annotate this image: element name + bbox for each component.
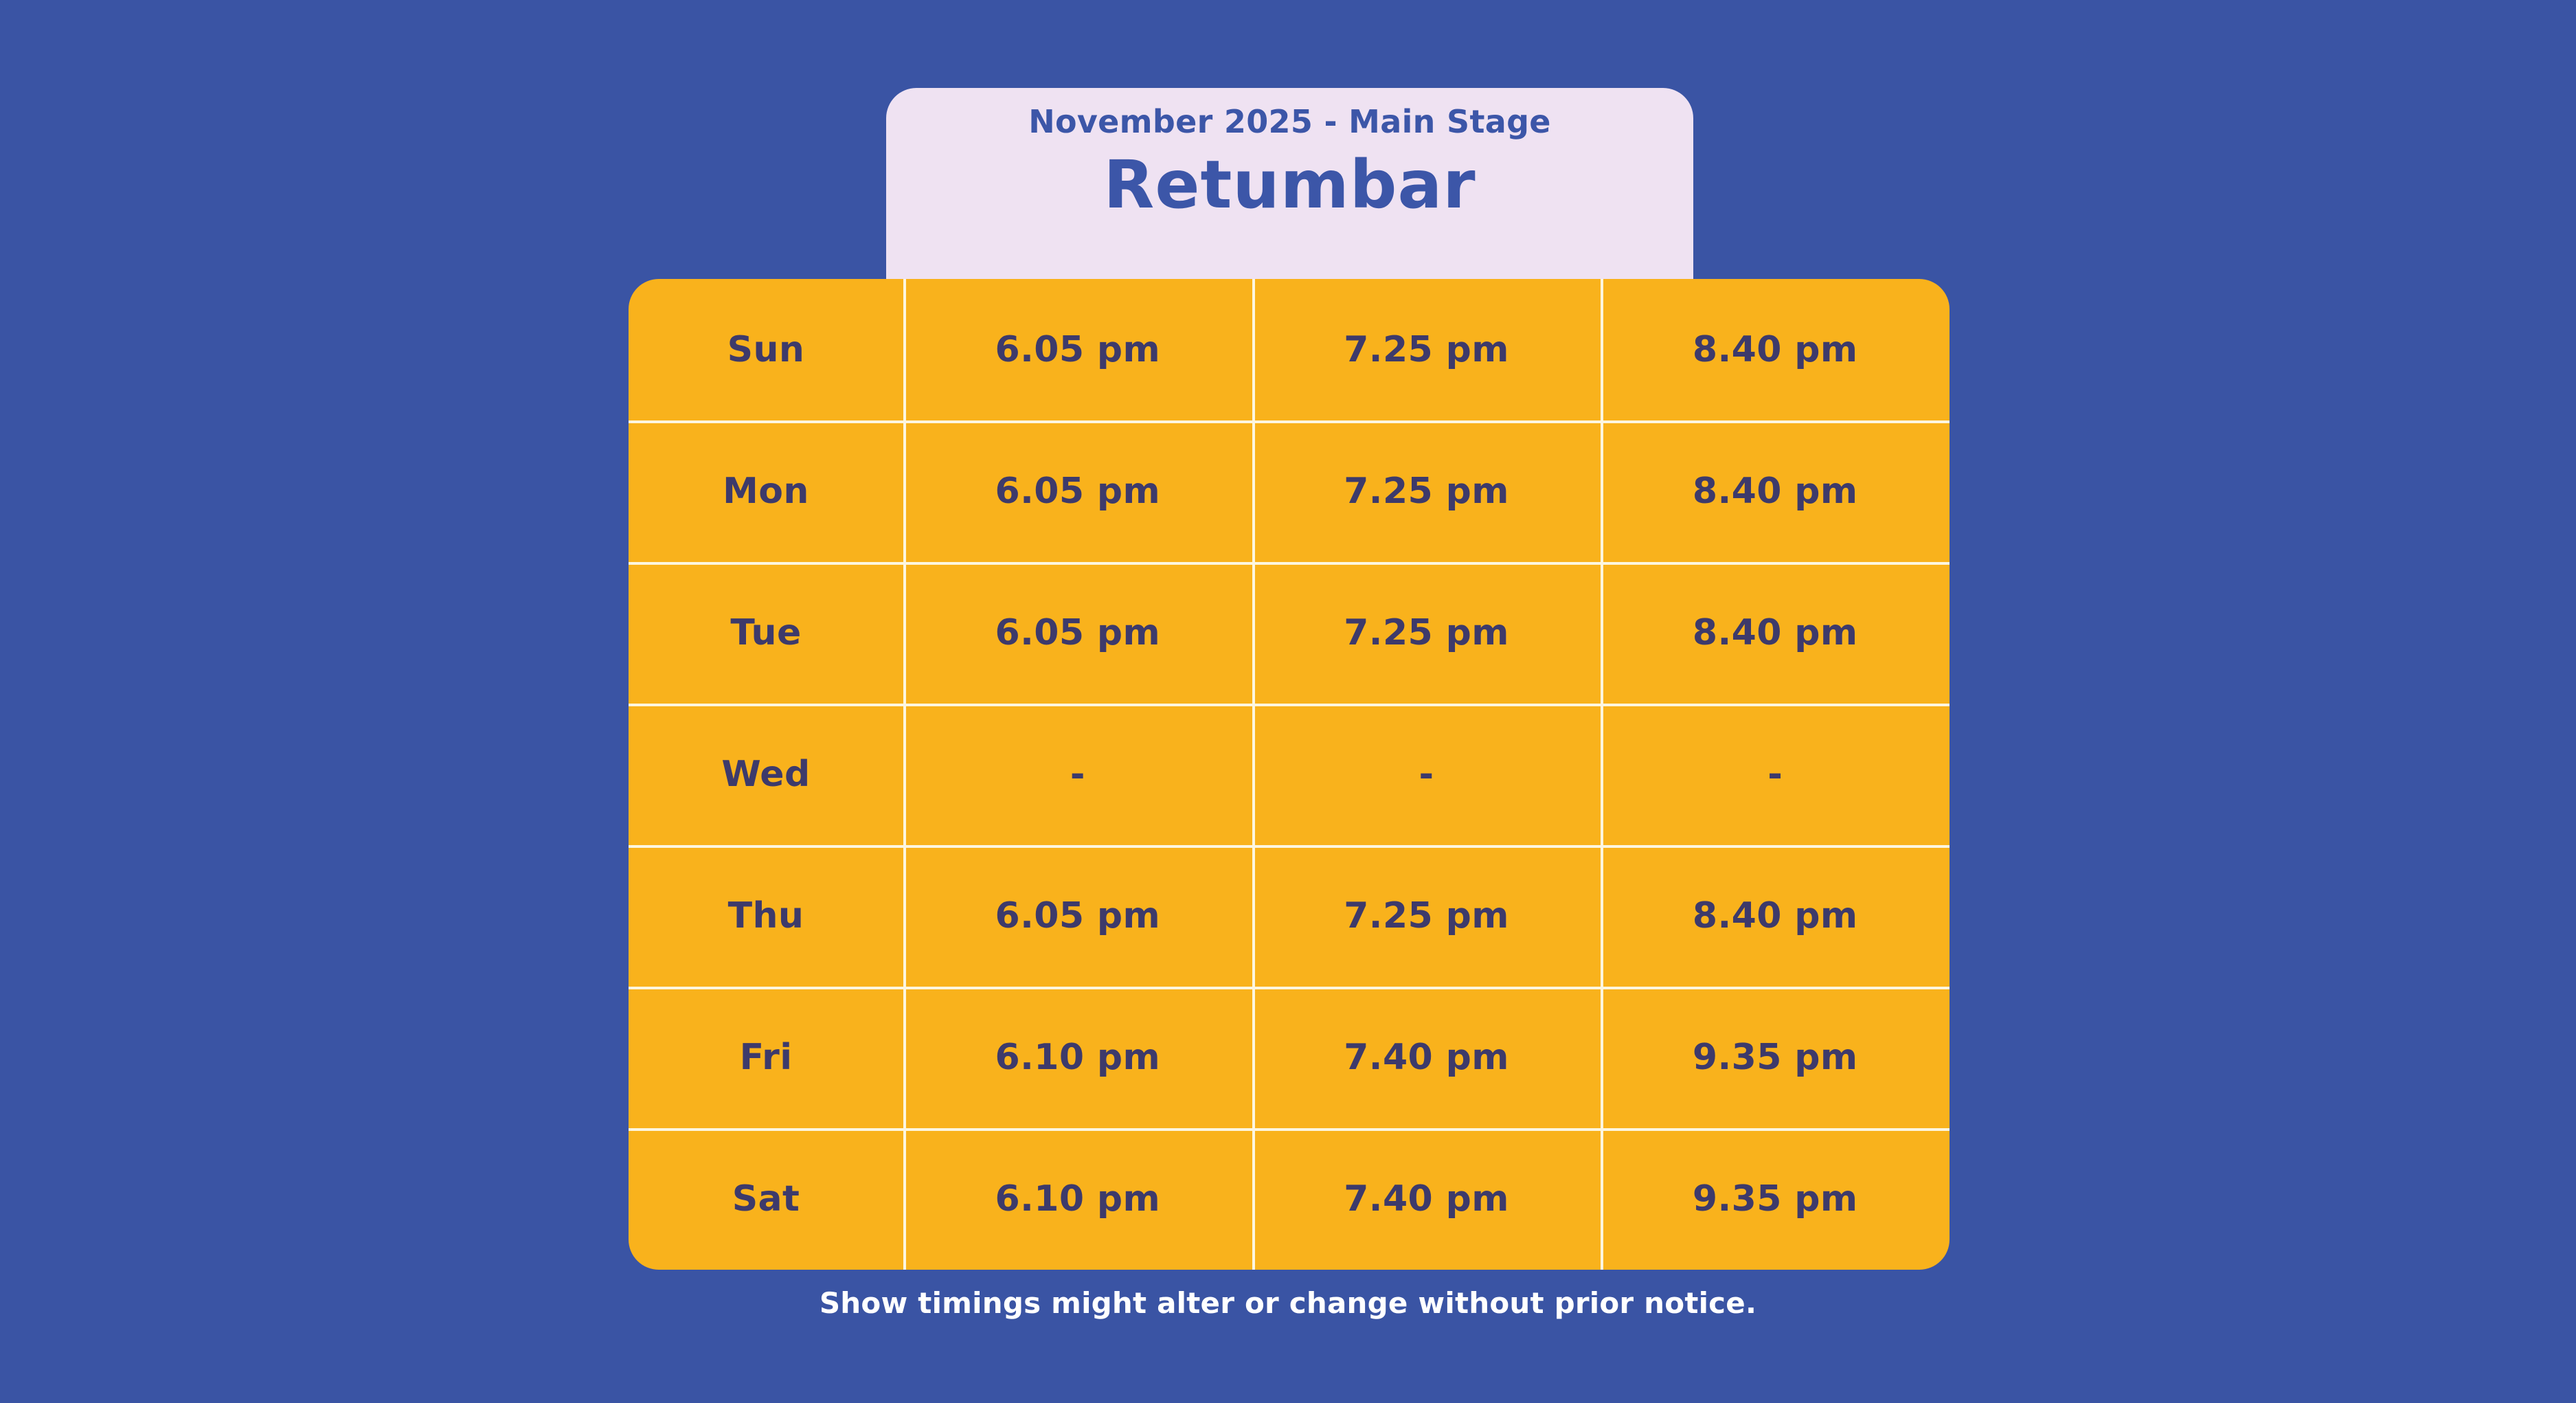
showtime-cell[interactable]: 7.40 pm: [1252, 987, 1601, 1128]
day-label: Mon: [629, 420, 903, 562]
day-label: Thu: [629, 845, 903, 987]
table-row: Tue 6.05 pm 7.25 pm 8.40 pm: [629, 562, 1950, 704]
showtime-cell[interactable]: 8.40 pm: [1601, 279, 1950, 420]
day-label: Tue: [629, 562, 903, 704]
page-title: Retumbar: [886, 144, 1693, 226]
showtime-cell[interactable]: 9.35 pm: [1601, 1128, 1950, 1270]
header-subtitle: November 2025 - Main Stage: [886, 104, 1693, 139]
showtime-cell[interactable]: 6.05 pm: [903, 279, 1252, 420]
table-row: Mon 6.05 pm 7.25 pm 8.40 pm: [629, 420, 1950, 562]
showtime-cell: -: [1252, 704, 1601, 845]
showtime-cell[interactable]: 7.25 pm: [1252, 420, 1601, 562]
showtime-cell[interactable]: 7.40 pm: [1252, 1128, 1601, 1270]
showtime-cell: -: [1601, 704, 1950, 845]
day-label: Sun: [629, 279, 903, 420]
day-label: Wed: [629, 704, 903, 845]
showtimes-poster: November 2025 - Main Stage Retumbar Sun …: [0, 0, 2576, 1403]
showtime-cell[interactable]: 6.10 pm: [903, 1128, 1252, 1270]
table-row: Wed - - -: [629, 704, 1950, 845]
showtime-cell[interactable]: 7.25 pm: [1252, 279, 1601, 420]
disclaimer-note: Show timings might alter or change witho…: [0, 1286, 2576, 1320]
table-row: Thu 6.05 pm 7.25 pm 8.40 pm: [629, 845, 1950, 987]
table-row: Sun 6.05 pm 7.25 pm 8.40 pm: [629, 279, 1950, 420]
showtime-cell[interactable]: 8.40 pm: [1601, 420, 1950, 562]
showtime-cell[interactable]: 7.25 pm: [1252, 562, 1601, 704]
showtimes-table: Sun 6.05 pm 7.25 pm 8.40 pm Mon 6.05 pm …: [629, 279, 1950, 1270]
showtime-cell: -: [903, 704, 1252, 845]
table-row: Fri 6.10 pm 7.40 pm 9.35 pm: [629, 987, 1950, 1128]
showtime-cell[interactable]: 9.35 pm: [1601, 987, 1950, 1128]
table-row: Sat 6.10 pm 7.40 pm 9.35 pm: [629, 1128, 1950, 1270]
showtime-cell[interactable]: 6.05 pm: [903, 845, 1252, 987]
showtime-cell[interactable]: 8.40 pm: [1601, 845, 1950, 987]
showtime-cell[interactable]: 8.40 pm: [1601, 562, 1950, 704]
showtime-cell[interactable]: 7.25 pm: [1252, 845, 1601, 987]
showtime-cell[interactable]: 6.05 pm: [903, 562, 1252, 704]
showtime-cell[interactable]: 6.10 pm: [903, 987, 1252, 1128]
header-card: November 2025 - Main Stage Retumbar: [886, 88, 1693, 287]
showtime-cell[interactable]: 6.05 pm: [903, 420, 1252, 562]
day-label: Sat: [629, 1128, 903, 1270]
day-label: Fri: [629, 987, 903, 1128]
